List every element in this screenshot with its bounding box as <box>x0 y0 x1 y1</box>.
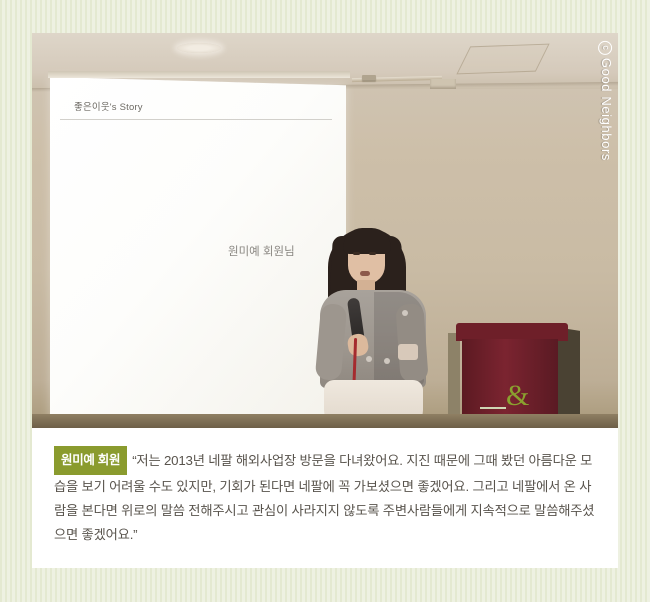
caption-box: 원미예 회원“저는 2013년 네팔 해외사업장 방문을 다녀왔어요. 지진 때… <box>32 428 618 568</box>
eye-right <box>369 252 376 255</box>
arm-right <box>395 303 428 383</box>
podium: & 굿네이버스 <box>456 323 568 428</box>
spotlight-icon-4 <box>362 75 376 80</box>
page-root: 좋은이웃's Story 원미예 회원님 <box>0 0 650 602</box>
member-name-badge: 원미예 회원 <box>54 446 127 475</box>
projector-screen-surface: 좋은이웃's Story 원미예 회원님 <box>50 77 346 428</box>
good-neighbors-ampersand-logo-icon: & <box>506 381 529 411</box>
caption-text-block: 원미예 회원“저는 2013년 네팔 해외사업장 방문을 다녀왔어요. 지진 때… <box>54 446 596 547</box>
jacket-button-3 <box>402 310 408 316</box>
copyright-notice: cGood Neighbors <box>598 41 614 161</box>
logo-underline <box>480 407 506 409</box>
eye-left <box>353 252 360 255</box>
ceiling-vent-icon <box>456 44 549 75</box>
copyright-owner-label: Good Neighbors <box>599 58 614 161</box>
hair-front <box>343 228 391 254</box>
projector-screen: 좋은이웃's Story 원미예 회원님 <box>50 77 346 428</box>
slide-title: 좋은이웃's Story <box>74 99 143 113</box>
member-quote-text: “저는 2013년 네팔 해외사업장 방문을 다녀왔어요. 지진 때문에 그때 … <box>54 453 594 542</box>
jacket-button-1 <box>366 356 372 362</box>
slide-title-underline <box>60 119 332 120</box>
speaker-figure <box>318 226 430 428</box>
recessed-ceiling-light-icon <box>177 43 221 53</box>
floor-strip <box>32 414 618 428</box>
slide-speaker-name: 원미예 회원님 <box>228 243 295 259</box>
podium-side-panel <box>556 327 580 428</box>
ceiling-projector-mount <box>430 79 456 89</box>
mouth <box>360 271 370 276</box>
copyright-symbol-icon: c <box>598 41 612 55</box>
event-photo: 좋은이웃's Story 원미예 회원님 <box>32 33 618 428</box>
sleeve-patch <box>398 344 418 360</box>
screen-housing-bar <box>48 71 350 78</box>
jacket-button-2 <box>384 358 390 364</box>
